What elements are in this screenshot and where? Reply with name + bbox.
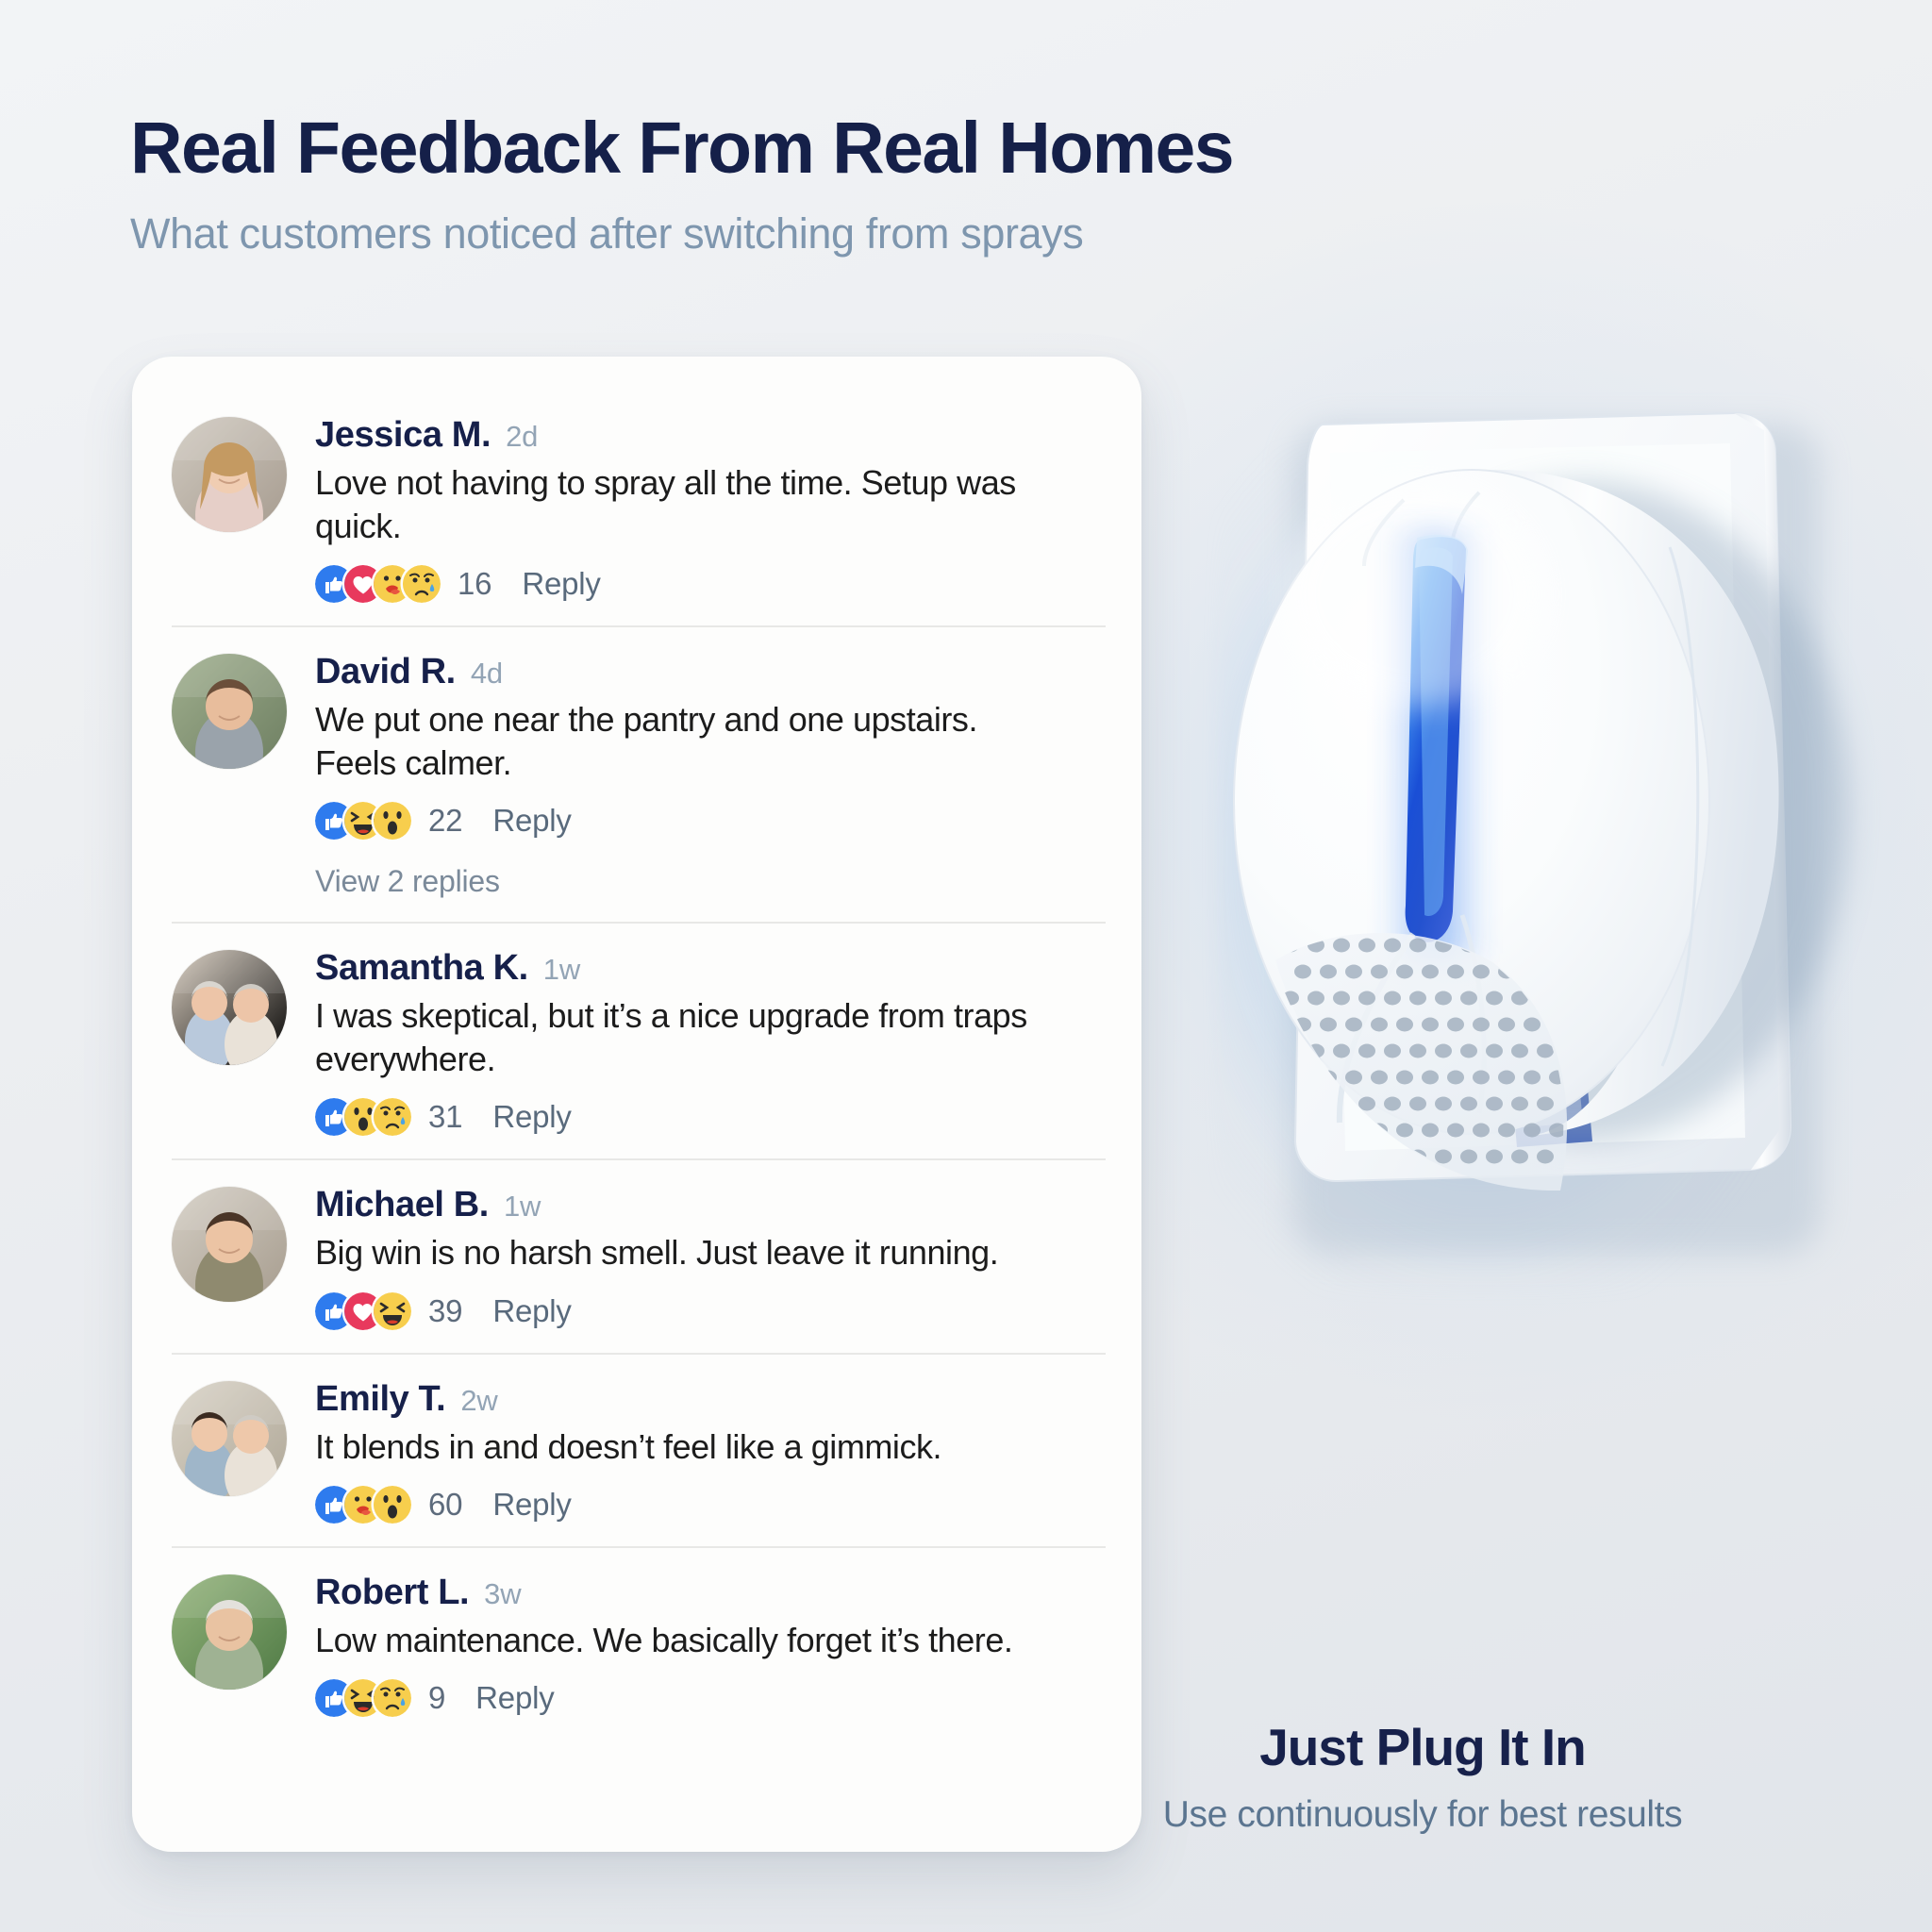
comment-header: Samantha K. 1w	[315, 948, 1100, 989]
comment-text: I was skeptical, but it’s a nice upgrade…	[315, 994, 1051, 1081]
comment-body: Robert L. 3w Low maintenance. We basical…	[315, 1569, 1100, 1717]
comment-row: Michael B. 1w Big win is no harsh smell.…	[132, 1158, 1141, 1352]
comment-actions: 9 Reply	[315, 1679, 1100, 1717]
comment-actions: 39 Reply	[315, 1292, 1100, 1330]
reaction-group[interactable]	[315, 1098, 411, 1136]
reaction-count: 22	[428, 803, 462, 839]
comment-text: Big win is no harsh smell. Just leave it…	[315, 1231, 1051, 1274]
avatar	[172, 1187, 287, 1302]
footer-subtitle: Use continuously for best results	[979, 1794, 1866, 1836]
avatar	[172, 1574, 287, 1690]
reaction-count: 60	[428, 1487, 462, 1523]
comment-actions: 31 Reply	[315, 1098, 1100, 1136]
view-replies-link[interactable]: View 2 replies	[315, 864, 1100, 899]
comment-author[interactable]: Robert L.	[315, 1573, 469, 1613]
comment-actions: 22 Reply	[315, 802, 1100, 840]
comment-body: David R. 4d We put one near the pantry a…	[315, 648, 1100, 899]
plug-in-repeller-device	[1179, 311, 1924, 1491]
comment-body: Jessica M. 2d Love not having to spray a…	[315, 411, 1100, 603]
avatar	[172, 654, 287, 769]
reaction-group[interactable]	[315, 802, 411, 840]
haha-icon[interactable]	[374, 1292, 411, 1330]
comment-actions: 60 Reply	[315, 1486, 1100, 1524]
sad-icon[interactable]	[374, 1679, 411, 1717]
reply-button[interactable]: Reply	[492, 1487, 571, 1523]
reaction-group[interactable]	[315, 1486, 411, 1524]
reply-button[interactable]: Reply	[492, 803, 571, 839]
page-title: Real Feedback From Real Homes	[130, 111, 1545, 186]
comment-header: Jessica M. 2d	[315, 415, 1100, 456]
comment-timestamp: 1w	[504, 1190, 541, 1224]
comment-row: Emily T. 2w It blends in and doesn’t fee…	[132, 1353, 1141, 1546]
reaction-count: 9	[428, 1680, 445, 1716]
comment-author[interactable]: Michael B.	[315, 1185, 489, 1225]
comments-card: Jessica M. 2d Love not having to spray a…	[132, 357, 1141, 1852]
comment-row: Jessica M. 2d Love not having to spray a…	[132, 389, 1141, 625]
comment-row: Robert L. 3w Low maintenance. We basical…	[132, 1546, 1141, 1740]
comment-list: Jessica M. 2d Love not having to spray a…	[132, 389, 1141, 1740]
comment-header: Emily T. 2w	[315, 1379, 1100, 1420]
reaction-group[interactable]	[315, 1679, 411, 1717]
footer-title: Just Plug It In	[979, 1717, 1866, 1777]
reaction-count: 39	[428, 1293, 462, 1329]
comment-timestamp: 3w	[484, 1577, 521, 1611]
reaction-count: 31	[428, 1099, 462, 1135]
page-subtitle: What customers noticed after switching f…	[130, 210, 1545, 258]
product-footer: Just Plug It In Use continuously for bes…	[979, 1717, 1866, 1836]
comment-text: Low maintenance. We basically forget it’…	[315, 1619, 1051, 1662]
comment-timestamp: 2d	[506, 420, 538, 454]
product-image-area	[1179, 311, 1924, 1491]
comment-timestamp: 1w	[543, 953, 580, 987]
comment-timestamp: 4d	[471, 657, 503, 691]
avatar	[172, 417, 287, 532]
avatar	[172, 950, 287, 1065]
reaction-count: 16	[458, 566, 491, 602]
comment-actions: 16 Reply	[315, 565, 1100, 603]
wow-icon[interactable]	[374, 1486, 411, 1524]
comment-body: Emily T. 2w It blends in and doesn’t fee…	[315, 1375, 1100, 1524]
comment-author[interactable]: Samantha K.	[315, 948, 528, 989]
reply-button[interactable]: Reply	[492, 1099, 571, 1135]
comment-row: Samantha K. 1w I was skeptical, but it’s…	[132, 922, 1141, 1158]
comment-header: David R. 4d	[315, 652, 1100, 692]
sad-icon[interactable]	[374, 1098, 411, 1136]
comment-timestamp: 2w	[460, 1384, 497, 1418]
page-header: Real Feedback From Real Homes What custo…	[130, 111, 1545, 258]
comment-header: Robert L. 3w	[315, 1573, 1100, 1613]
reply-button[interactable]: Reply	[475, 1680, 554, 1716]
comment-text: Love not having to spray all the time. S…	[315, 461, 1051, 548]
comment-body: Samantha K. 1w I was skeptical, but it’s…	[315, 944, 1100, 1136]
comment-text: We put one near the pantry and one upsta…	[315, 698, 1051, 785]
reaction-group[interactable]	[315, 565, 441, 603]
reply-button[interactable]: Reply	[492, 1293, 571, 1329]
reaction-group[interactable]	[315, 1292, 411, 1330]
wow-icon[interactable]	[374, 802, 411, 840]
comment-row: David R. 4d We put one near the pantry a…	[132, 625, 1141, 922]
comment-author[interactable]: Jessica M.	[315, 415, 491, 456]
sad-icon[interactable]	[403, 565, 441, 603]
comment-header: Michael B. 1w	[315, 1185, 1100, 1225]
comment-author[interactable]: Emily T.	[315, 1379, 445, 1420]
avatar	[172, 1381, 287, 1496]
comment-text: It blends in and doesn’t feel like a gim…	[315, 1425, 1051, 1469]
reply-button[interactable]: Reply	[522, 566, 600, 602]
comment-author[interactable]: David R.	[315, 652, 456, 692]
comment-body: Michael B. 1w Big win is no harsh smell.…	[315, 1181, 1100, 1329]
